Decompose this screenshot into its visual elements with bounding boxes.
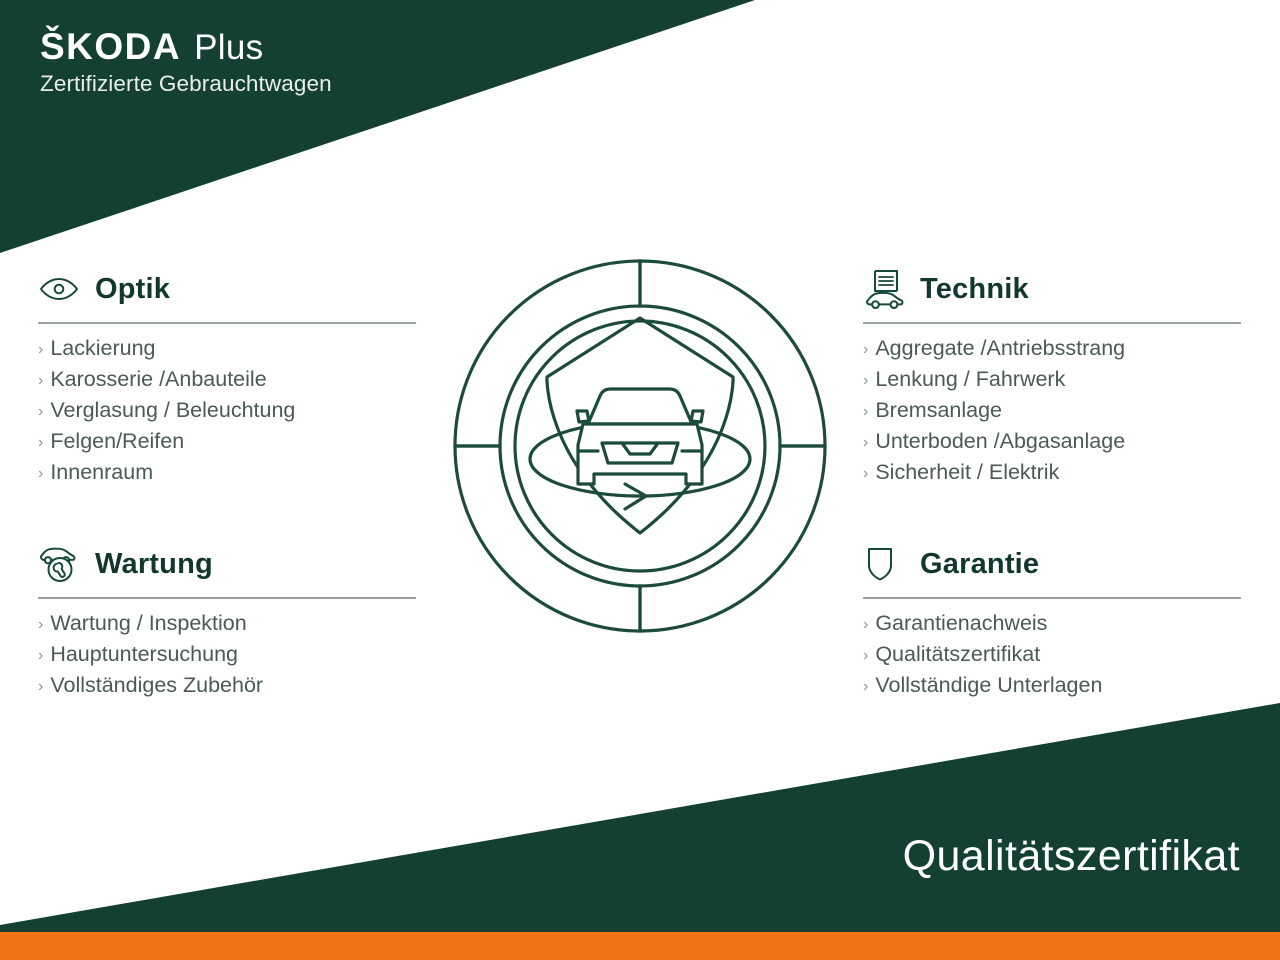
list-item-label: Aggregate /Antriebsstrang <box>875 333 1125 364</box>
chevron-right-icon: › <box>863 342 868 358</box>
chevron-right-icon: › <box>38 679 43 695</box>
list-item: ›Qualitätszertifikat <box>863 639 1241 670</box>
chevron-right-icon: › <box>863 404 868 420</box>
list-item: ›Innenraum <box>38 457 416 488</box>
list-item-label: Hauptuntersuchung <box>50 639 238 670</box>
list-item-label: Sicherheit / Elektrik <box>875 457 1059 488</box>
section-wartung-list: ›Wartung / Inspektion ›Hauptuntersuchung… <box>38 608 416 701</box>
chevron-right-icon: › <box>863 679 868 695</box>
section-garantie: Garantie ›Garantienachweis ›Qualitätszer… <box>863 541 1241 701</box>
orange-bar <box>0 932 1280 960</box>
list-item: ›Bremsanlage <box>863 395 1241 426</box>
footer-title: Qualitätszertifikat <box>903 835 1240 878</box>
brand-plus-label: Plus <box>194 30 263 65</box>
section-wartung: Wartung ›Wartung / Inspektion ›Hauptunte… <box>38 541 416 701</box>
brand-tagline: Zertifizierte Gebrauchtwagen <box>40 71 332 97</box>
section-optik: Optik ›Lackierung ›Karosserie /Anbauteil… <box>38 266 416 488</box>
list-item: ›Verglasung / Beleuchtung <box>38 395 416 426</box>
list-item: ›Vollständige Unterlagen <box>863 670 1241 701</box>
section-optik-header: Optik <box>38 266 416 312</box>
list-item-label: Unterboden /Abgasanlage <box>875 426 1125 457</box>
list-item-label: Lenkung / Fahrwerk <box>875 364 1065 395</box>
certified-vehicle-emblem <box>440 246 840 646</box>
list-item-label: Garantienachweis <box>875 608 1047 639</box>
section-divider <box>863 597 1241 599</box>
section-divider <box>38 597 416 599</box>
list-item-label: Karosserie /Anbauteile <box>50 364 266 395</box>
list-item: ›Felgen/Reifen <box>38 426 416 457</box>
list-item: ›Sicherheit / Elektrik <box>863 457 1241 488</box>
chevron-right-icon: › <box>863 435 868 451</box>
list-item: ›Vollständiges Zubehör <box>38 670 416 701</box>
list-item-label: Vollständiges Zubehör <box>50 670 263 701</box>
section-technik-title: Technik <box>920 275 1029 304</box>
list-item: ›Lenkung / Fahrwerk <box>863 364 1241 395</box>
list-item-label: Vollständige Unterlagen <box>875 670 1102 701</box>
brand-skoda-wordmark: ŠKODA <box>40 28 181 65</box>
eye-icon <box>38 268 82 310</box>
chevron-right-icon: › <box>38 617 43 633</box>
chevron-right-icon: › <box>38 435 43 451</box>
section-garantie-list: ›Garantienachweis ›Qualitätszertifikat ›… <box>863 608 1241 701</box>
list-item: ›Hauptuntersuchung <box>38 639 416 670</box>
list-item: ›Garantienachweis <box>863 608 1241 639</box>
shield-icon <box>863 543 907 585</box>
chevron-right-icon: › <box>863 617 868 633</box>
chevron-right-icon: › <box>863 373 868 389</box>
chevron-right-icon: › <box>38 404 43 420</box>
chevron-right-icon: › <box>38 466 43 482</box>
section-divider <box>863 322 1241 324</box>
list-item-label: Verglasung / Beleuchtung <box>50 395 295 426</box>
certificate-page: ŠKODA Plus Zertifizierte Gebrauchtwagen … <box>0 0 1280 960</box>
section-optik-title: Optik <box>95 275 170 304</box>
chevron-right-icon: › <box>38 373 43 389</box>
list-item-label: Felgen/Reifen <box>50 426 184 457</box>
list-item: ›Wartung / Inspektion <box>38 608 416 639</box>
section-divider <box>38 322 416 324</box>
section-technik: Technik ›Aggregate /Antriebsstrang ›Lenk… <box>863 266 1241 488</box>
list-item-label: Wartung / Inspektion <box>50 608 246 639</box>
list-item-label: Bremsanlage <box>875 395 1002 426</box>
car-wrench-icon <box>38 543 82 585</box>
list-item-label: Qualitätszertifikat <box>875 639 1040 670</box>
section-technik-header: Technik <box>863 266 1241 312</box>
list-item: ›Aggregate /Antriebsstrang <box>863 333 1241 364</box>
car-document-icon <box>863 268 907 310</box>
section-optik-list: ›Lackierung ›Karosserie /Anbauteile ›Ver… <box>38 333 416 488</box>
section-technik-list: ›Aggregate /Antriebsstrang ›Lenkung / Fa… <box>863 333 1241 488</box>
chevron-right-icon: › <box>38 648 43 664</box>
section-wartung-header: Wartung <box>38 541 416 587</box>
list-item: ›Unterboden /Abgasanlage <box>863 426 1241 457</box>
chevron-right-icon: › <box>863 648 868 664</box>
list-item-label: Lackierung <box>50 333 155 364</box>
section-wartung-title: Wartung <box>95 550 213 579</box>
brand-block: ŠKODA Plus Zertifizierte Gebrauchtwagen <box>40 28 332 97</box>
section-garantie-title: Garantie <box>920 550 1039 579</box>
chevron-right-icon: › <box>38 342 43 358</box>
section-garantie-header: Garantie <box>863 541 1241 587</box>
list-item-label: Innenraum <box>50 457 153 488</box>
list-item: ›Karosserie /Anbauteile <box>38 364 416 395</box>
list-item: ›Lackierung <box>38 333 416 364</box>
chevron-right-icon: › <box>863 466 868 482</box>
